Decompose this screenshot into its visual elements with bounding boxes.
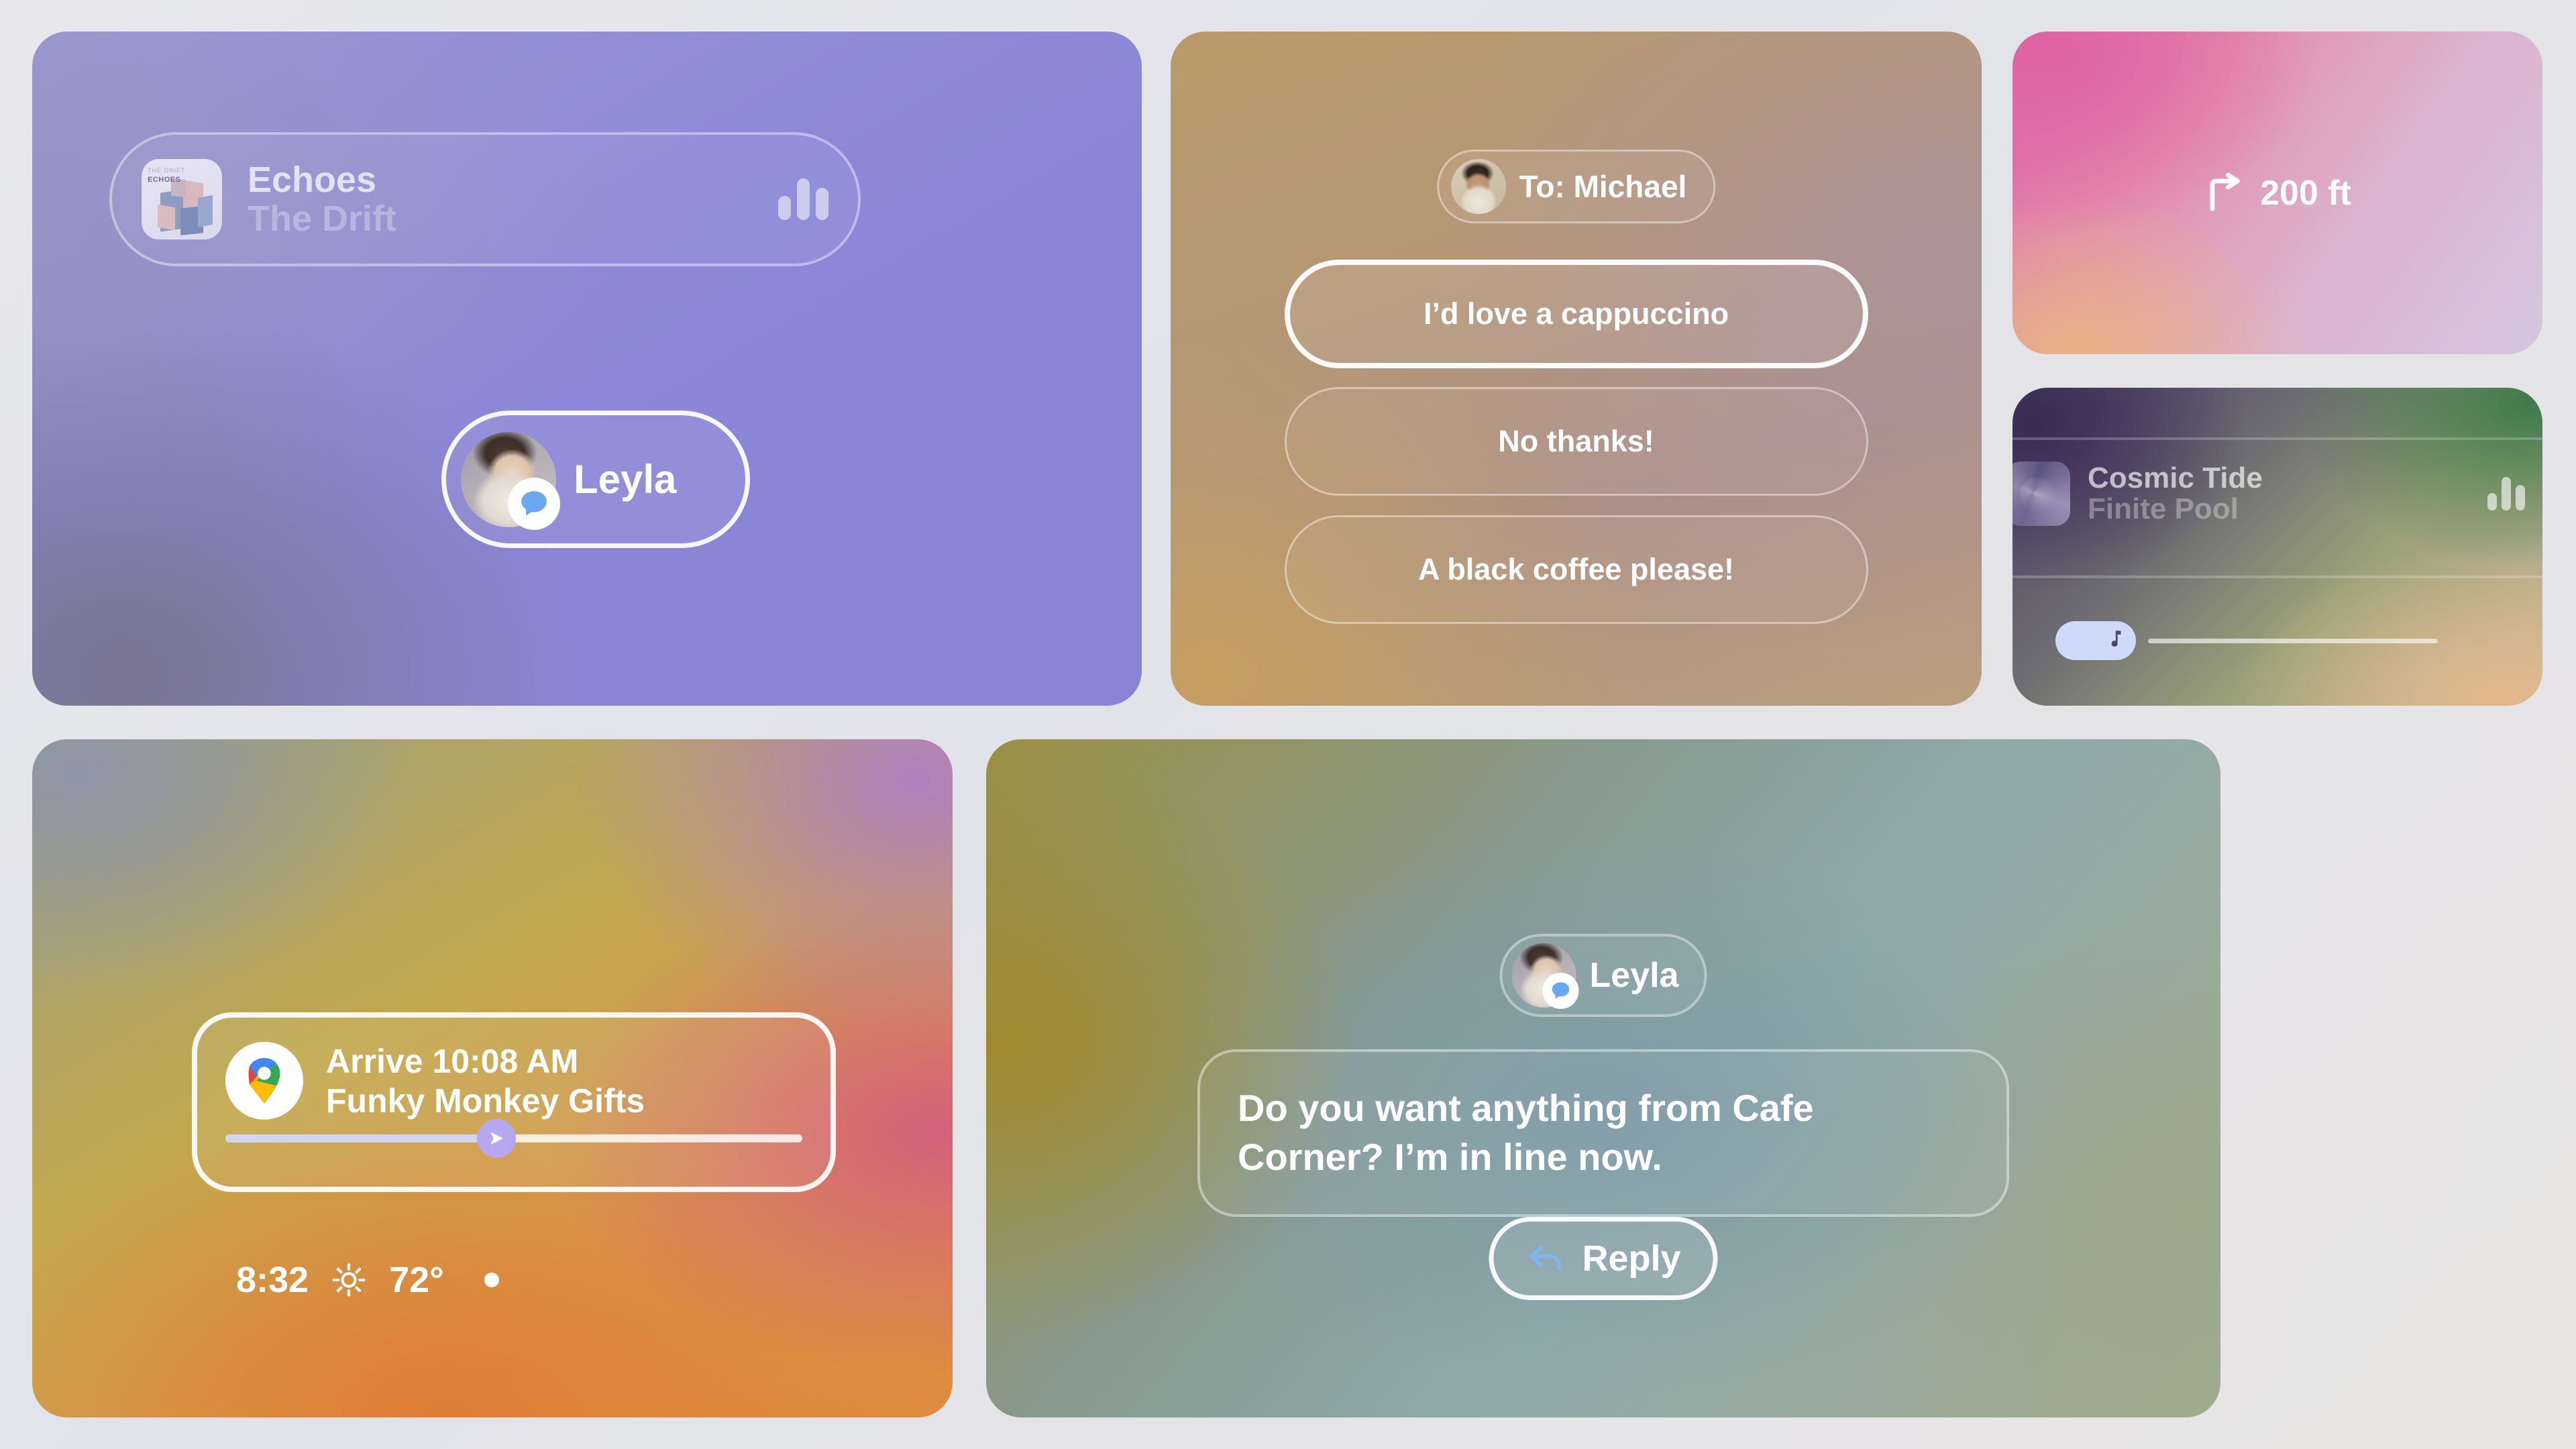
album-art-label-title: ECHOES [148, 176, 180, 184]
google-maps-pin-icon [225, 1042, 303, 1120]
avatar [1451, 159, 1506, 214]
now-playing-row[interactable]: Cosmic Tide Finite Pool [2012, 462, 2542, 526]
divider [2012, 437, 2542, 440]
now-playing-bar[interactable]: THE DRIFT ECHOES Echoes The Drift [109, 132, 861, 266]
arrival-destination: Funky Monkey Gifts [326, 1081, 645, 1121]
maneuver-row: 200 ft [2204, 172, 2351, 214]
track-artist: Finite Pool [2088, 494, 2263, 525]
card-message-notification[interactable]: Leyla Do you want anything from Cafe Cor… [986, 739, 2220, 1417]
album-art [2012, 462, 2070, 526]
message-sender-pill[interactable]: Leyla [1500, 934, 1707, 1017]
arrival-header: Arrive 10:08 AM Funky Monkey Gifts [225, 1042, 802, 1121]
contact-name: Leyla [574, 456, 676, 502]
track-title: Echoes [248, 161, 396, 199]
turn-right-icon [2204, 172, 2245, 214]
scrub-track[interactable] [2148, 639, 2438, 643]
arrival-text: Arrive 10:08 AM Funky Monkey Gifts [326, 1042, 645, 1121]
music-note-icon [2102, 628, 2125, 654]
arrival-eta: Arrive 10:08 AM [326, 1042, 645, 1081]
album-art: THE DRIFT ECHOES [142, 159, 222, 239]
music-note-handle[interactable] [2055, 621, 2136, 660]
track-meta: Echoes The Drift [248, 161, 396, 237]
playback-scrubber[interactable] [2055, 621, 2485, 660]
maneuver-distance: 200 ft [2260, 173, 2351, 213]
navigation-arrow-icon[interactable] [477, 1119, 516, 1158]
reply-button[interactable]: Reply [1489, 1217, 1717, 1300]
equalizer-icon [778, 178, 828, 220]
track-meta: Cosmic Tide Finite Pool [2088, 463, 2263, 525]
card-navigation-maneuver[interactable]: 200 ft [2012, 32, 2542, 354]
reply-option-2[interactable]: A black coffee please! [1285, 515, 1868, 624]
reply-option-1[interactable]: No thanks! [1285, 387, 1868, 496]
divider [2012, 576, 2542, 578]
equalizer-icon [2487, 477, 2525, 511]
status-row: 8:32 72° [192, 1259, 661, 1301]
arrival-panel[interactable]: Arrive 10:08 AM Funky Monkey Gifts [192, 1012, 836, 1192]
card-now-playing-cosmic[interactable]: Cosmic Tide Finite Pool [2012, 388, 2542, 706]
clock-time: 8:32 [236, 1259, 309, 1301]
temperature: 72° [389, 1259, 444, 1301]
reply-button-label: Reply [1582, 1238, 1680, 1279]
card-navigation-arrival[interactable]: Arrive 10:08 AM Funky Monkey Gifts 8:32 … [32, 739, 953, 1417]
message-bubble[interactable]: Do you want anything from Cafe Corner? I… [1197, 1049, 2009, 1217]
track-artist: The Drift [248, 200, 396, 237]
card-reply-suggestions[interactable]: To: Michael I’d love a cappuccino No tha… [1171, 32, 1982, 706]
status-dot [484, 1273, 499, 1287]
route-progress-slider[interactable] [225, 1124, 802, 1153]
chat-bubble-icon [508, 478, 560, 530]
reply-option-0[interactable]: I’d love a cappuccino [1285, 260, 1868, 368]
sun-icon [331, 1263, 366, 1297]
message-sender-name: Leyla [1590, 955, 1679, 996]
avatar [461, 432, 556, 527]
recipient-label: To: Michael [1519, 168, 1687, 205]
chat-bubble-icon [1543, 973, 1579, 1009]
recipient-pill[interactable]: To: Michael [1437, 150, 1716, 223]
track-title: Cosmic Tide [2088, 463, 2263, 494]
message-text: Do you want anything from Cafe Corner? I… [1238, 1084, 1969, 1182]
contact-pill-leyla[interactable]: Leyla [441, 411, 750, 548]
reply-arrow-icon [1525, 1238, 1564, 1280]
card-now-playing-contact[interactable]: THE DRIFT ECHOES Echoes The Drift Leyla [32, 32, 1142, 706]
album-art-label-artist: THE DRIFT [148, 167, 185, 174]
avatar [1512, 943, 1576, 1008]
slider-fill [225, 1134, 496, 1142]
